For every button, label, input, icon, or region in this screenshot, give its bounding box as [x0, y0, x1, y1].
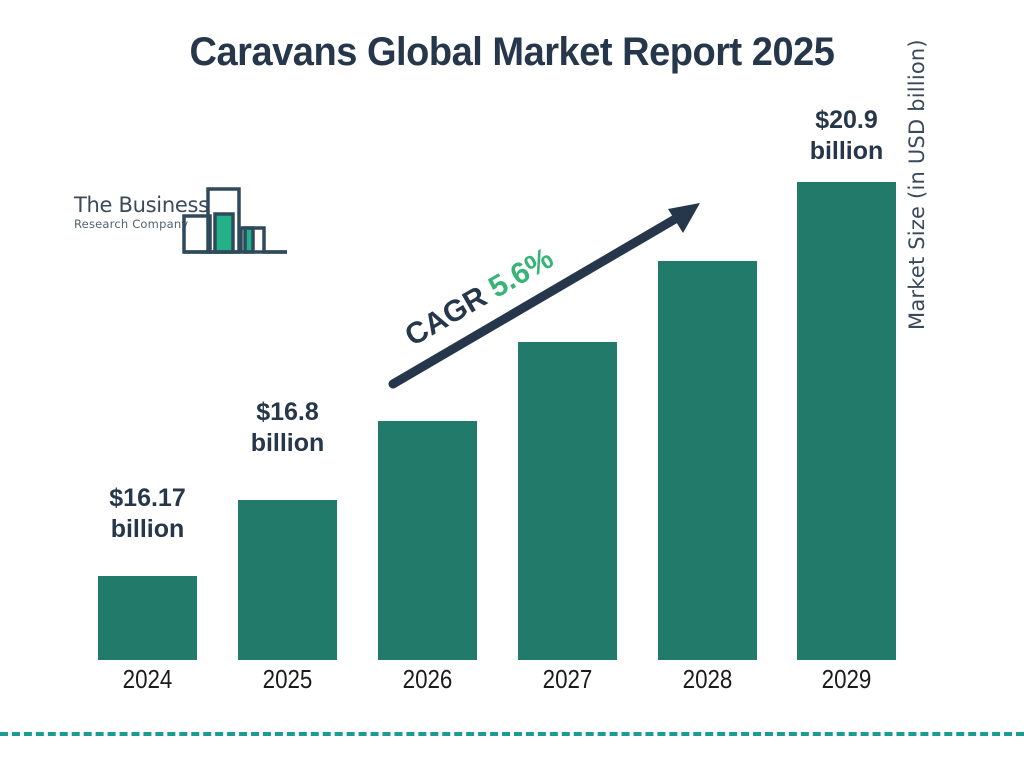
x-tick-2026: 2026 — [385, 664, 470, 695]
x-tick-2028: 2028 — [665, 664, 750, 695]
x-tick-2025: 2025 — [245, 664, 330, 695]
bar-2024 — [98, 576, 197, 660]
bar-label-2025-value: $16.8 — [218, 397, 357, 428]
bar-label-2029-unit: billion — [777, 136, 916, 167]
company-logo: The Business Research Company — [74, 186, 289, 256]
x-tick-2027: 2027 — [525, 664, 610, 695]
bar-2025 — [238, 500, 337, 660]
bar-label-2025-unit: billion — [218, 428, 357, 459]
x-tick-2024: 2024 — [105, 664, 190, 695]
bar-label-2024-value: $16.17 — [78, 483, 217, 514]
y-axis-title: Market Size (in USD billion) — [905, 0, 929, 330]
bottom-divider — [0, 732, 1024, 736]
x-tick-2029: 2029 — [804, 664, 889, 695]
bar-2029 — [797, 182, 896, 660]
bar-2026 — [378, 421, 477, 660]
bar-chart-logo-mark — [182, 186, 289, 256]
growth-arrow — [380, 185, 720, 400]
chart-page: Caravans Global Market Report 2025 The B… — [0, 0, 1024, 768]
bar-label-2025: $16.8 billion — [218, 397, 357, 458]
bar-label-2029: $20.9 billion — [777, 105, 916, 166]
page-title: Caravans Global Market Report 2025 — [26, 30, 999, 75]
bar-label-2024: $16.17 billion — [78, 483, 217, 544]
bar-label-2029-value: $20.9 — [777, 105, 916, 136]
bar-label-2024-unit: billion — [78, 514, 217, 545]
